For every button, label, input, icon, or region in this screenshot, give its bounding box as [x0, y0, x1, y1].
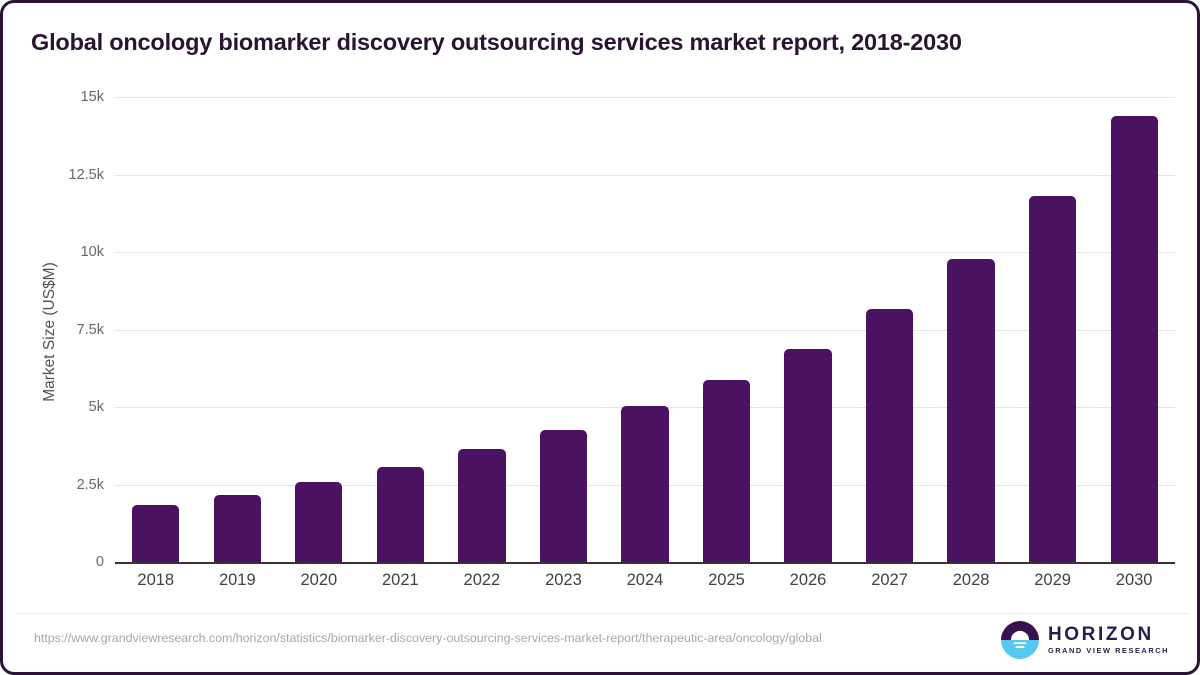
bar-2027[interactable]	[866, 309, 913, 562]
bar-2024[interactable]	[621, 406, 668, 562]
y-tick-label: 0	[96, 554, 104, 570]
horizon-logo-text: HORIZON GRAND VIEW RESEARCH	[1048, 625, 1169, 656]
bar-series	[115, 97, 1175, 562]
bar-2021[interactable]	[377, 467, 424, 562]
bar-slot	[441, 97, 523, 562]
x-tick-label-2029: 2029	[1012, 571, 1094, 590]
bar-slot	[686, 97, 768, 562]
bar-2028[interactable]	[947, 259, 994, 562]
bar-2018[interactable]	[132, 505, 179, 562]
bar-2020[interactable]	[295, 482, 342, 562]
x-tick-label-2028: 2028	[930, 571, 1012, 590]
logo-wordmark: HORIZON	[1048, 625, 1169, 645]
x-tick-label-2030: 2030	[1093, 571, 1175, 590]
bar-2022[interactable]	[458, 449, 505, 562]
bar-slot	[604, 97, 686, 562]
x-tick-label-2021: 2021	[360, 571, 442, 590]
bar-2025[interactable]	[703, 380, 750, 562]
bar-slot	[523, 97, 605, 562]
bar-slot	[1093, 97, 1175, 562]
bar-slot	[115, 97, 197, 562]
horizon-logo-icon	[1001, 621, 1039, 659]
bar-2023[interactable]	[540, 430, 587, 562]
x-tick-label-2020: 2020	[278, 571, 360, 590]
x-tick-label-2025: 2025	[686, 571, 768, 590]
x-tick-label-2024: 2024	[604, 571, 686, 590]
bar-slot	[278, 97, 360, 562]
horizon-logo: HORIZON GRAND VIEW RESEARCH	[1001, 621, 1169, 659]
x-tick-label-2019: 2019	[197, 571, 279, 590]
source-url-text: https://www.grandviewresearch.com/horizo…	[34, 630, 934, 647]
x-tick-label-2023: 2023	[523, 571, 605, 590]
logo-tagline: GRAND VIEW RESEARCH	[1048, 647, 1169, 656]
footer-divider	[17, 613, 1189, 614]
chart-plot-area: Market Size (US$M) 02.5k5k7.5k10k12.5k15…	[3, 3, 1200, 675]
x-axis-baseline	[115, 562, 1175, 564]
y-tick-label: 10k	[81, 244, 104, 260]
bar-slot	[197, 97, 279, 562]
x-tick-label-2022: 2022	[441, 571, 523, 590]
bar-slot	[930, 97, 1012, 562]
x-tick-label-2026: 2026	[767, 571, 849, 590]
bar-2019[interactable]	[214, 495, 261, 562]
x-tick-label-2018: 2018	[115, 571, 197, 590]
x-tick-label-2027: 2027	[849, 571, 931, 590]
bar-slot	[849, 97, 931, 562]
y-tick-label: 12.5k	[69, 167, 104, 183]
bar-2026[interactable]	[784, 349, 831, 562]
bar-slot	[1012, 97, 1094, 562]
y-tick-label: 2.5k	[77, 477, 104, 493]
chart-card: Global oncology biomarker discovery outs…	[0, 0, 1200, 675]
bar-2029[interactable]	[1029, 196, 1076, 562]
y-tick-label: 15k	[81, 89, 104, 105]
x-axis-ticks: 2018201920202021202220232024202520262027…	[115, 571, 1175, 590]
y-axis-title: Market Size (US$M)	[41, 217, 59, 447]
y-tick-label: 7.5k	[77, 322, 104, 338]
bar-2030[interactable]	[1111, 116, 1158, 562]
bar-slot	[360, 97, 442, 562]
y-tick-label: 5k	[89, 399, 104, 415]
bar-slot	[767, 97, 849, 562]
